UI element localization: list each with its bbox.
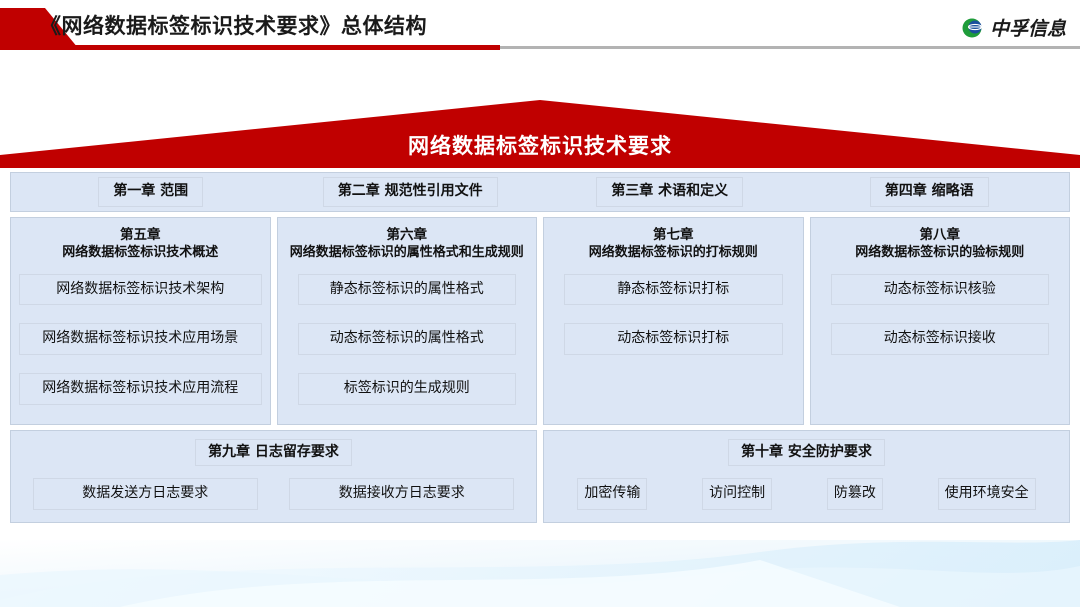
header-rule-gray — [500, 46, 1080, 49]
chapter-cell: 第四章 缩略语 — [800, 177, 1060, 207]
chapter-cell: 第二章 规范性引用文件 — [281, 177, 541, 207]
list-item[interactable]: 网络数据标签标识技术应用流程 — [19, 373, 262, 405]
chapter-6-title: 网络数据标签标识的属性格式和生成规则 — [286, 244, 529, 262]
page-title: 《网络数据标签标识技术要求》总体结构 — [40, 10, 427, 40]
chapter-5-panel: 第五章 网络数据标签标识技术概述 网络数据标签标识技术架构 网络数据标签标识技术… — [10, 217, 271, 425]
chapter-9-heading: 第九章 日志留存要求 — [21, 439, 526, 467]
list-item[interactable]: 网络数据标签标识技术应用场景 — [19, 323, 262, 355]
chapter-7-title: 网络数据标签标识的打标规则 — [552, 244, 795, 262]
list-item[interactable]: 静态标签标识的属性格式 — [298, 274, 517, 306]
list-item[interactable]: 静态标签标识打标 — [564, 274, 783, 306]
chapter-9-items: 数据发送方日志要求 数据接收方日志要求 — [21, 478, 526, 510]
chapter-row-1: 第一章 范围 第二章 规范性引用文件 第三章 术语和定义 第四章 缩略语 — [10, 172, 1070, 212]
chapter-9-title: 第九章 日志留存要求 — [195, 439, 352, 467]
header-rule-red — [0, 45, 500, 50]
chapter-8-panel: 第八章 网络数据标签标识的验标规则 动态标签标识核验 动态标签标识接收 — [810, 217, 1071, 425]
list-item[interactable]: 网络数据标签标识技术架构 — [19, 274, 262, 306]
list-item[interactable]: 使用环境安全 — [938, 478, 1036, 510]
logo-globe-icon — [962, 17, 984, 39]
chapter-8-number: 第八章 — [819, 226, 1062, 244]
list-item[interactable]: 数据发送方日志要求 — [33, 478, 258, 510]
chapter-5-title: 网络数据标签标识技术概述 — [19, 244, 262, 262]
chapter-cell: 第三章 术语和定义 — [540, 177, 800, 207]
logo-text: 中孚信息 — [990, 14, 1066, 41]
chapter-8-title: 网络数据标签标识的验标规则 — [819, 244, 1062, 262]
chapter-5-heading: 第五章 网络数据标签标识技术概述 — [19, 226, 262, 262]
list-item[interactable]: 动态标签标识接收 — [831, 323, 1050, 355]
chapter-row-2: 第五章 网络数据标签标识技术概述 网络数据标签标识技术架构 网络数据标签标识技术… — [10, 217, 1070, 425]
list-item[interactable]: 防篡改 — [827, 478, 883, 510]
chapter-8-heading: 第八章 网络数据标签标识的验标规则 — [819, 226, 1062, 262]
page-header: 《网络数据标签标识技术要求》总体结构 中孚信息 — [0, 0, 1080, 58]
chapter-10-items: 加密传输 访问控制 防篡改 使用环境安全 — [554, 478, 1059, 510]
chapter-3-chip[interactable]: 第三章 术语和定义 — [596, 177, 743, 207]
chapter-4-chip[interactable]: 第四章 缩略语 — [870, 177, 989, 207]
chapter-2-chip[interactable]: 第二章 规范性引用文件 — [323, 177, 498, 207]
list-item[interactable]: 加密传输 — [577, 478, 647, 510]
list-item[interactable]: 动态标签标识核验 — [831, 274, 1050, 306]
chapter-10-panel: 第十章 安全防护要求 加密传输 访问控制 防篡改 使用环境安全 — [543, 430, 1070, 523]
chapter-7-panel: 第七章 网络数据标签标识的打标规则 静态标签标识打标 动态标签标识打标 — [543, 217, 804, 425]
roof-banner: 网络数据标签标识技术要求 — [0, 100, 1080, 172]
chapter-8-items: 动态标签标识核验 动态标签标识接收 — [819, 274, 1062, 414]
chapter-6-items: 静态标签标识的属性格式 动态标签标识的属性格式 标签标识的生成规则 — [286, 274, 529, 405]
structure-diagram: 第一章 范围 第二章 规范性引用文件 第三章 术语和定义 第四章 缩略语 第五章… — [10, 172, 1070, 523]
chapter-5-items: 网络数据标签标识技术架构 网络数据标签标识技术应用场景 网络数据标签标识技术应用… — [19, 274, 262, 405]
chapter-row-3: 第九章 日志留存要求 数据发送方日志要求 数据接收方日志要求 第十章 安全防护要… — [10, 430, 1070, 523]
roof-title: 网络数据标签标识技术要求 — [0, 130, 1080, 160]
chapter-7-heading: 第七章 网络数据标签标识的打标规则 — [552, 226, 795, 262]
chapter-7-number: 第七章 — [552, 226, 795, 244]
list-item[interactable]: 访问控制 — [702, 478, 772, 510]
chapter-6-number: 第六章 — [286, 226, 529, 244]
chapter-10-heading: 第十章 安全防护要求 — [554, 439, 1059, 467]
chapter-5-number: 第五章 — [19, 226, 262, 244]
chapter-10-title: 第十章 安全防护要求 — [728, 439, 885, 467]
chapter-7-items: 静态标签标识打标 动态标签标识打标 — [552, 274, 795, 414]
list-item[interactable]: 动态标签标识的属性格式 — [298, 323, 517, 355]
list-item[interactable]: 数据接收方日志要求 — [289, 478, 514, 510]
chapter-9-panel: 第九章 日志留存要求 数据发送方日志要求 数据接收方日志要求 — [10, 430, 537, 523]
chapter-cell: 第一章 范围 — [21, 177, 281, 207]
company-logo: 中孚信息 — [962, 14, 1066, 41]
chapter-6-heading: 第六章 网络数据标签标识的属性格式和生成规则 — [286, 226, 529, 262]
chapter-6-panel: 第六章 网络数据标签标识的属性格式和生成规则 静态标签标识的属性格式 动态标签标… — [277, 217, 538, 425]
list-item[interactable]: 标签标识的生成规则 — [298, 373, 517, 405]
list-item[interactable]: 动态标签标识打标 — [564, 323, 783, 355]
chapter-1-chip[interactable]: 第一章 范围 — [98, 177, 203, 207]
